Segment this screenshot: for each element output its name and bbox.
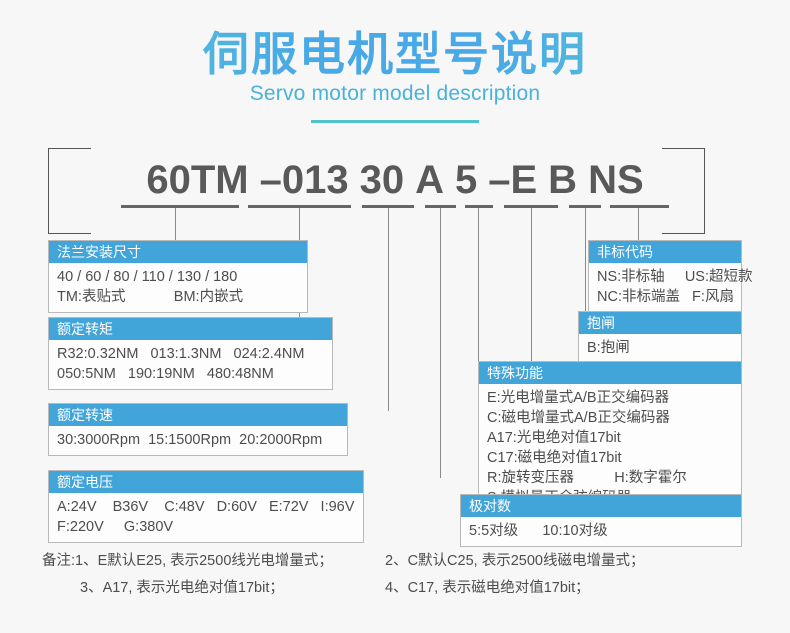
box-rated-speed-row-0: 30:3000Rpm 15:1500Rpm 20:2000Rpm	[57, 430, 339, 450]
box-brake-row-0: B:抱闸	[587, 338, 733, 358]
box-special-function-row-1: C:磁电增量式A/B正交编码器	[487, 408, 733, 428]
model-segment-brake: B	[546, 158, 579, 202]
model-segment-flange: 60TM	[144, 158, 250, 202]
box-flange-size-row-0: 40 / 60 / 80 / 110 / 130 / 180	[57, 267, 299, 287]
bracket-right	[662, 148, 705, 234]
box-nonstandard-code-header: 非标代码	[589, 241, 741, 263]
box-flange-size: 法兰安装尺寸 40 / 60 / 80 / 110 / 130 / 180 TM…	[48, 240, 308, 313]
page-title-english: Servo motor model description	[0, 82, 790, 106]
model-segment-speed: 30	[358, 158, 407, 202]
diagram-page: 伺服电机型号说明 Servo motor model description 6…	[0, 0, 790, 633]
leader-line-special	[531, 208, 532, 363]
box-pole-pairs-header: 极对数	[461, 495, 741, 517]
box-rated-voltage: 额定电压 A:24V B36V C:48V D:60V E:72V I:96V …	[48, 470, 364, 543]
box-rated-voltage-row-0: A:24V B36V C:48V D:60V E:72V I:96V	[57, 497, 355, 517]
box-flange-size-header: 法兰安装尺寸	[49, 241, 307, 263]
box-rated-torque-body: R32:0.32NM 013:1.3NM 024:2.4NM 050:5NM 1…	[49, 340, 332, 389]
box-rated-torque-row-0: R32:0.32NM 013:1.3NM 024:2.4NM	[57, 344, 324, 364]
leader-line-brake	[585, 208, 586, 313]
title-underline-rule	[311, 120, 479, 123]
box-rated-torque-row-1: 050:5NM 190:19NM 480:48NM	[57, 364, 324, 384]
box-rated-speed-body: 30:3000Rpm 15:1500Rpm 20:2000Rpm	[49, 426, 347, 455]
bracket-left	[48, 148, 91, 234]
footer-note-3: 3、A17, 表示光电绝对值17bit；	[0, 575, 385, 602]
footer-note-line-1: 备注:1、E默认E25, 表示2500线光电增量式；2、C默认C25, 表示25…	[0, 548, 790, 575]
box-rated-speed: 额定转速 30:3000Rpm 15:1500Rpm 20:2000Rpm	[48, 403, 348, 456]
box-special-function: 特殊功能 E:光电增量式A/B正交编码器 C:磁电增量式A/B正交编码器 A17…	[478, 361, 742, 514]
footer-note-4: 4、C17, 表示磁电绝对值17bit；	[385, 575, 590, 602]
model-segment-voltage: A	[413, 158, 446, 202]
box-rated-torque-header: 额定转矩	[49, 318, 332, 340]
box-flange-size-body: 40 / 60 / 80 / 110 / 130 / 180 TM:表贴式 BM…	[49, 263, 307, 312]
box-rated-speed-header: 额定转速	[49, 404, 347, 426]
box-rated-torque: 额定转矩 R32:0.32NM 013:1.3NM 024:2.4NM 050:…	[48, 317, 333, 390]
box-special-function-row-3: C17:磁电绝对值17bit	[487, 448, 733, 468]
footer-note-line-2: 3、A17, 表示光电绝对值17bit；4、C17, 表示磁电绝对值17bit；	[0, 575, 790, 602]
box-flange-size-row-1: TM:表贴式 BM:内嵌式	[57, 287, 299, 307]
leader-line-voltage	[440, 208, 441, 478]
box-nonstandard-code: 非标代码 NS:非标轴 US:超短款 NC:非标端盖 F:风扇	[588, 240, 742, 313]
leader-line-speed	[388, 208, 389, 411]
model-segment-nonstandard: NS	[586, 158, 646, 202]
box-brake-header: 抱闸	[579, 312, 741, 334]
box-nonstandard-code-row-1: NC:非标端盖 F:风扇	[597, 287, 733, 307]
box-nonstandard-code-row-0: NS:非标轴 US:超短款	[597, 267, 733, 287]
leader-line-nonstandard	[638, 208, 639, 242]
box-brake: 抱闸 B:抱闸	[578, 311, 742, 364]
box-special-function-row-0: E:光电增量式A/B正交编码器	[487, 388, 733, 408]
footer-note-1: 备注:1、E默认E25, 表示2500线光电增量式；	[0, 548, 385, 575]
box-special-function-header: 特殊功能	[479, 362, 741, 384]
model-underline-flange	[121, 205, 239, 208]
box-nonstandard-code-body: NS:非标轴 US:超短款 NC:非标端盖 F:风扇	[589, 263, 741, 312]
box-rated-voltage-header: 额定电压	[49, 471, 363, 493]
footer-note-2: 2、C默认C25, 表示2500线磁电增量式；	[385, 548, 644, 575]
model-underline-poles	[465, 205, 493, 208]
box-pole-pairs-row-0: 5:5对级 10:10对级	[469, 521, 733, 541]
model-segment-torque: –013	[258, 158, 351, 202]
box-rated-voltage-body: A:24V B36V C:48V D:60V E:72V I:96V F:220…	[49, 493, 363, 542]
page-title-chinese: 伺服电机型号说明	[0, 18, 790, 84]
model-underline-nonstandard	[610, 205, 669, 208]
box-pole-pairs: 极对数 5:5对级 10:10对级	[460, 494, 742, 547]
box-special-function-row-4: R:旋转变压器 H:数字霍尔	[487, 468, 733, 488]
box-pole-pairs-body: 5:5对级 10:10对级	[461, 517, 741, 546]
footer-notes: 备注:1、E默认E25, 表示2500线光电增量式；2、C默认C25, 表示25…	[0, 548, 790, 602]
box-brake-body: B:抱闸	[579, 334, 741, 363]
box-rated-voltage-row-1: F:220V G:380V	[57, 517, 355, 537]
model-segment-special: –E	[486, 158, 539, 202]
model-segment-poles: 5	[453, 158, 479, 202]
box-special-function-row-2: A17:光电绝对值17bit	[487, 428, 733, 448]
